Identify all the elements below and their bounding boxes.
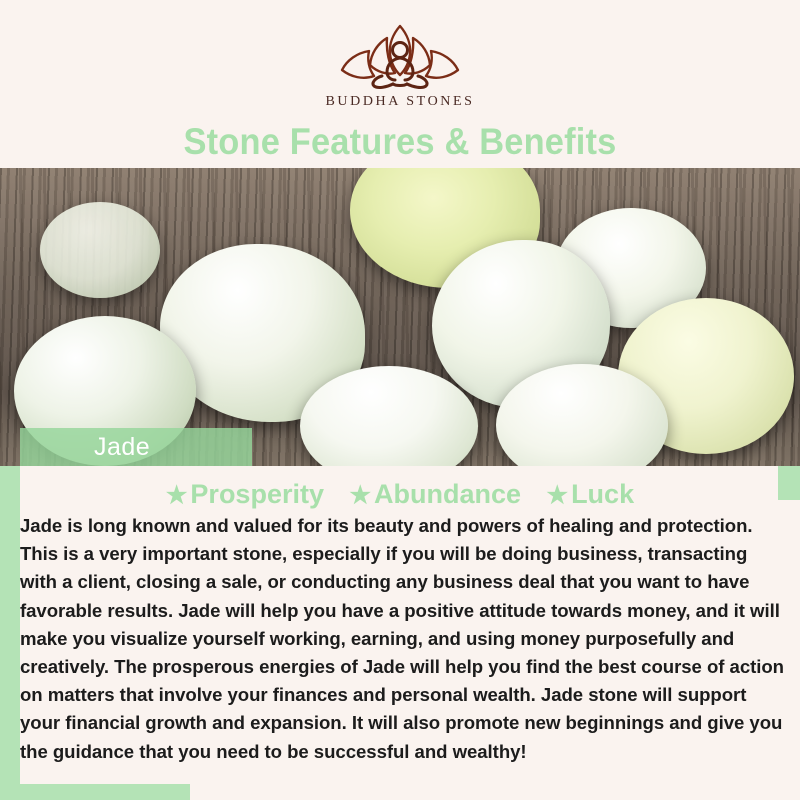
page-title: Stone Features & Benefits	[28, 122, 772, 162]
star-icon: ★	[166, 482, 188, 509]
jade-stone	[40, 202, 160, 298]
benefit-label: Abundance	[374, 479, 521, 509]
brand-name: BUDDHA STONES	[0, 94, 800, 110]
benefit-label: Luck	[571, 479, 634, 509]
stone-name-label: Jade	[94, 433, 150, 462]
stone-description-text: Jade is long known and valued for its be…	[20, 512, 785, 766]
benefits-row: ★Prosperity ★Abundance ★Luck	[0, 479, 800, 511]
stone-description: Jade is long known and valued for its be…	[20, 512, 785, 766]
stone-name-banner: Jade	[20, 428, 252, 466]
stone-infographic-card: BUDDHA STONES Stone Features & Benefits …	[0, 0, 800, 800]
stone-photo	[0, 168, 800, 466]
decor-band-bottom-left	[0, 784, 190, 800]
benefit-item-0: ★Prosperity	[166, 479, 324, 511]
benefit-item-2: ★Luck	[547, 479, 635, 511]
star-icon: ★	[547, 482, 569, 509]
benefit-label: Prosperity	[190, 479, 324, 509]
brand-logo: BUDDHA STONES	[0, 18, 800, 110]
benefit-item-1: ★Abundance	[350, 479, 522, 511]
star-icon: ★	[350, 482, 372, 509]
lotus-meditation-icon	[325, 18, 475, 92]
